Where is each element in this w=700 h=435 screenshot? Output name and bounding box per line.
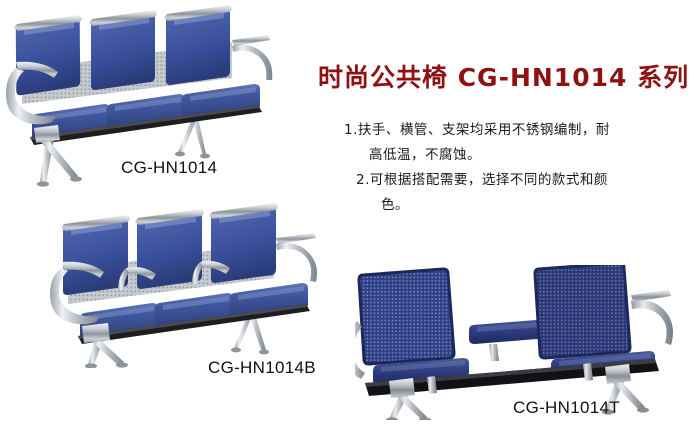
page-title: 时尚公共椅 CG-HN1014 系列 — [318, 58, 689, 94]
poster-canvas: CG-HN1014 — [0, 0, 700, 435]
product-image-cg-hn1014b — [38, 198, 338, 368]
caption-cg-hn1014b: CG-HN1014B — [208, 358, 316, 378]
feature-line-1: 1.扶手、横管、支架均采用不锈钢编制，耐 — [344, 118, 610, 143]
feature-line-1-cont: 高低温，不腐蚀。 — [369, 143, 481, 168]
feature-line-2-cont: 色。 — [381, 193, 409, 218]
product-image-cg-hn1014t — [355, 265, 695, 420]
feature-line-2: 2.可根据搭配需要，选择不同的款式和颜 — [356, 168, 608, 193]
caption-cg-hn1014t: CG-HN1014T — [513, 398, 620, 418]
caption-cg-hn1014: CG-HN1014 — [121, 158, 217, 178]
